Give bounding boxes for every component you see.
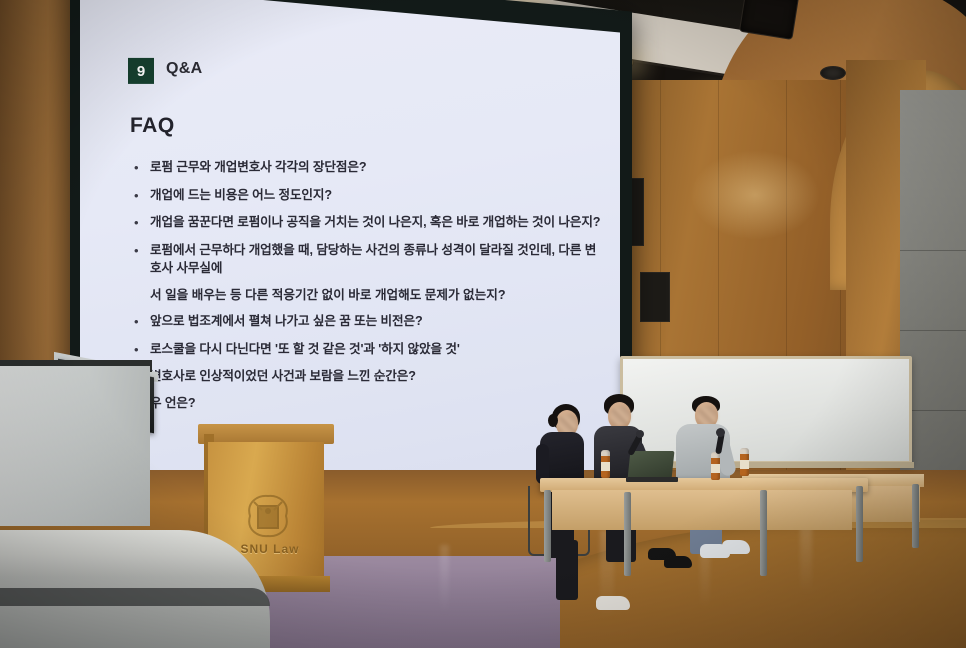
- bullet-dot-icon: •: [134, 340, 150, 360]
- slide-title: FAQ: [130, 114, 175, 138]
- laptop-screen[interactable]: [628, 451, 675, 479]
- slide-bullet-list: • 로펌 근무와 개업변호사 각각의 장단점은? • 개업에 드는 비용은 어느…: [134, 158, 604, 421]
- control-console: TION: [0, 366, 150, 526]
- list-item-continuation: 서 일을 배우는 등 다른 적응기간 없이 바로 개업해도 문제가 없는지?: [134, 286, 604, 305]
- bullet-text: 개업을 꿈꾼다면 로펌이나 공직을 거치는 것이 나은지, 혹은 바로 개업하는…: [150, 213, 600, 232]
- list-item: • 앞으로 법조계에서 펼쳐 나가고 싶은 꿈 또는 비전은?: [134, 312, 604, 332]
- list-item: 변호사로 인상적이었던 사건과 보람을 느낀 순간은?: [134, 367, 604, 386]
- bullet-dot-icon: •: [134, 185, 150, 205]
- bullet-text: 로펌에서 근무하다 개업했을 때, 담당하는 사건의 종류나 성격이 달라질 것…: [150, 240, 604, 277]
- front-desk-band: [0, 588, 270, 606]
- list-item: 우 언은?: [134, 394, 604, 413]
- whiteboard: [620, 356, 912, 464]
- lecture-hall-scene: 9 Q&A FAQ • 로펌 근무와 개업변호사 각각의 장단점은? • 개업에…: [0, 0, 966, 648]
- snu-law-crest-icon: [240, 490, 296, 542]
- list-item: • 로스쿨을 다시 다닌다면 '또 할 것 같은 것'과 '하지 않았을 것': [134, 340, 604, 360]
- table-leg: [544, 490, 551, 562]
- ceiling-speaker-icon: [820, 66, 846, 80]
- bullet-text: 로펌 근무와 개업변호사 각각의 장단점은?: [150, 158, 366, 177]
- bullet-dot-icon: •: [134, 213, 150, 232]
- list-item: • 개업에 드는 비용은 어느 정도인지?: [134, 185, 604, 205]
- bullet-dot-icon: •: [134, 158, 150, 178]
- bullet-dot-icon: •: [134, 312, 150, 332]
- slide-chapter-label: Q&A: [166, 60, 202, 78]
- table-leg: [760, 490, 767, 576]
- list-item: • 로펌 근무와 개업변호사 각각의 장단점은?: [134, 158, 604, 178]
- bullet-text: 우 언은?: [150, 394, 195, 413]
- bullet-text: 앞으로 법조계에서 펼쳐 나가고 싶은 꿈 또는 비전은?: [150, 312, 423, 331]
- table-leg: [856, 486, 863, 562]
- panel-table-apron: [552, 490, 852, 530]
- acoustic-panel: [640, 272, 670, 322]
- bullet-text: 로스쿨을 다시 다닌다면 '또 할 것 같은 것'과 '하지 않았을 것': [150, 340, 460, 359]
- bullet-text: 변호사로 인상적이었던 사건과 보람을 느낀 순간은?: [150, 367, 416, 386]
- microphone-head-icon: [716, 428, 725, 437]
- table-leg: [912, 484, 919, 548]
- bullet-text-continuation: 서 일을 배우는 등 다른 적응기간 없이 바로 개업해도 문제가 없는지?: [150, 286, 506, 305]
- bullet-text: 개업에 드는 비용은 어느 정도인지?: [150, 185, 332, 204]
- microphone-head-icon: [636, 430, 644, 438]
- table-leg: [624, 492, 631, 576]
- podium-top: [198, 424, 334, 444]
- slide-badge-number: 9: [128, 58, 154, 84]
- wall-light-spill: [690, 150, 820, 240]
- bullet-dot-icon: •: [134, 240, 150, 260]
- list-item: • 개업을 꿈꾼다면 로펌이나 공직을 거치는 것이 나은지, 혹은 바로 개업…: [134, 213, 604, 233]
- list-item: • 로펌에서 근무하다 개업했을 때, 담당하는 사건의 종류나 성격이 달라질…: [134, 240, 604, 277]
- laptop-base[interactable]: [626, 477, 678, 482]
